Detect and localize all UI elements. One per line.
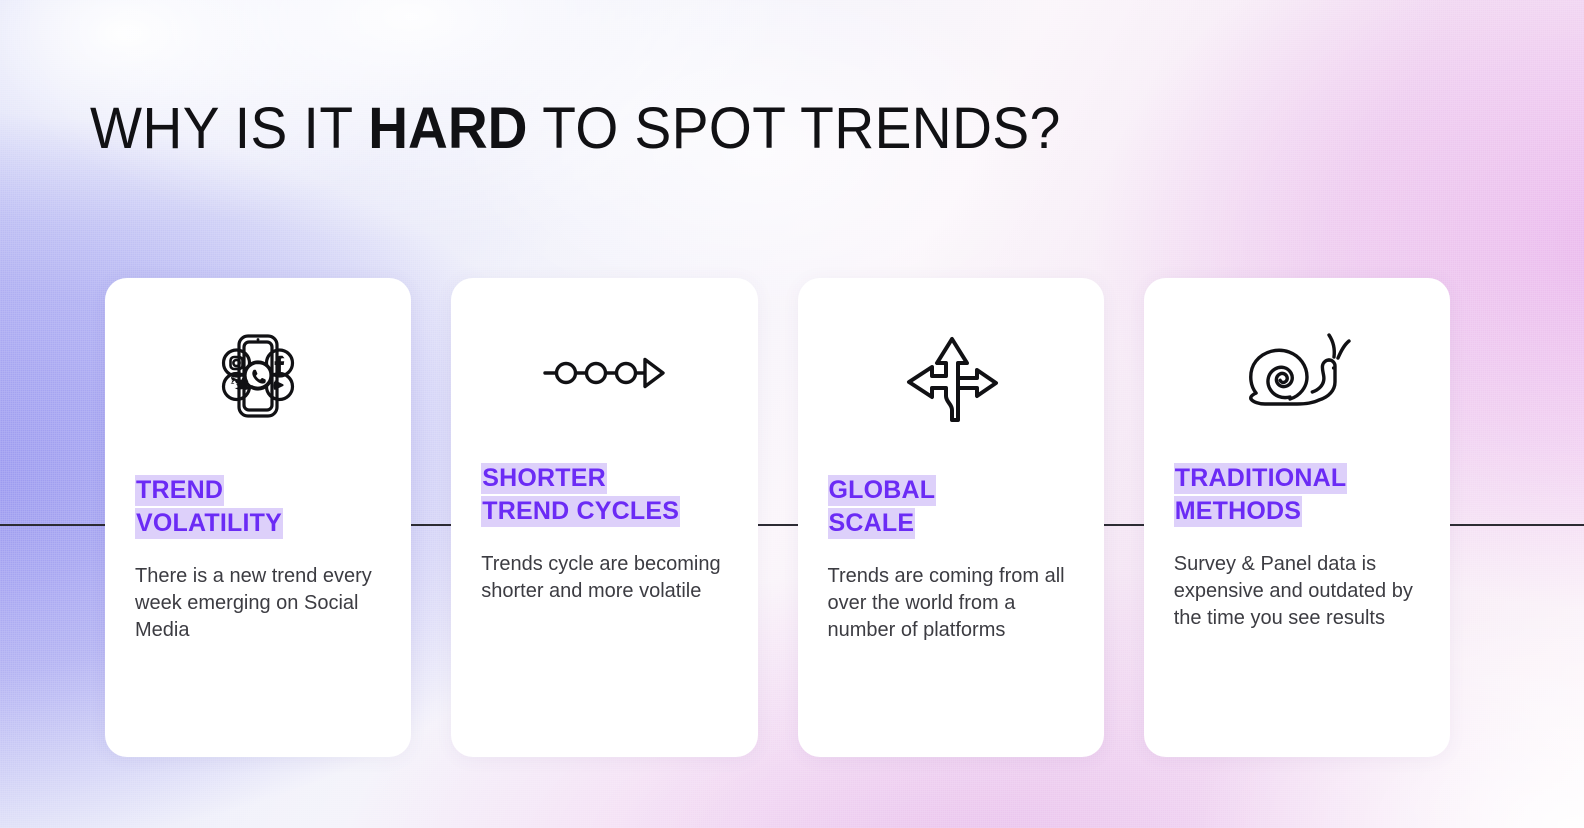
card-heading-line-2: TREND CYCLES — [481, 496, 680, 527]
card-description: Trends are coming from all over the worl… — [828, 563, 1074, 645]
cards-row: TREND VOLATILITY There is a new trend ev… — [105, 278, 1450, 757]
card-traditional-methods[interactable]: TRADITIONAL METHODS Survey & Panel data … — [1144, 278, 1450, 757]
card-global-scale[interactable]: GLOBAL SCALE Trends are coming from all … — [798, 278, 1104, 757]
card-heading-line-1: GLOBAL — [828, 475, 937, 506]
snail-icon — [1172, 278, 1422, 468]
card-description: There is a new trend every week emerging… — [135, 563, 381, 645]
card-heading-line-2: VOLATILITY — [135, 508, 283, 539]
card-trend-volatility[interactable]: TREND VOLATILITY There is a new trend ev… — [105, 278, 411, 757]
card-body: SHORTER TREND CYCLES Trends cycle are be… — [479, 462, 729, 605]
card-heading-line-1: TREND — [135, 475, 224, 506]
card-description: Trends cycle are becoming shorter and mo… — [481, 551, 727, 605]
card-heading-line-1: SHORTER — [481, 463, 607, 494]
card-heading: GLOBAL SCALE — [828, 474, 1074, 539]
card-heading-line-1: TRADITIONAL — [1174, 463, 1348, 494]
card-body: GLOBAL SCALE Trends are coming from all … — [826, 474, 1076, 645]
page-title: WHY IS IT HARD TO SPOT TRENDS? — [90, 100, 1061, 158]
title-prefix: WHY IS IT — [90, 96, 368, 161]
title-emphasis: HARD — [368, 96, 527, 161]
three-way-arrows-icon — [826, 278, 1076, 474]
card-heading-line-2: SCALE — [828, 508, 916, 539]
card-body: TREND VOLATILITY There is a new trend ev… — [133, 474, 383, 645]
card-heading-line-2: METHODS — [1174, 496, 1302, 527]
card-description: Survey & Panel data is expensive and out… — [1174, 551, 1420, 633]
card-heading: TREND VOLATILITY — [135, 474, 381, 539]
title-suffix: TO SPOT TRENDS? — [527, 96, 1060, 161]
card-shorter-trend-cycles[interactable]: SHORTER TREND CYCLES Trends cycle are be… — [451, 278, 757, 757]
slide-canvas: WHY IS IT HARD TO SPOT TRENDS? — [0, 0, 1584, 828]
card-heading: SHORTER TREND CYCLES — [481, 462, 727, 527]
card-body: TRADITIONAL METHODS Survey & Panel data … — [1172, 462, 1422, 633]
card-heading: TRADITIONAL METHODS — [1174, 462, 1420, 527]
timeline-arrow-icon — [479, 278, 729, 468]
smartphone-social-media-icon — [133, 278, 383, 474]
